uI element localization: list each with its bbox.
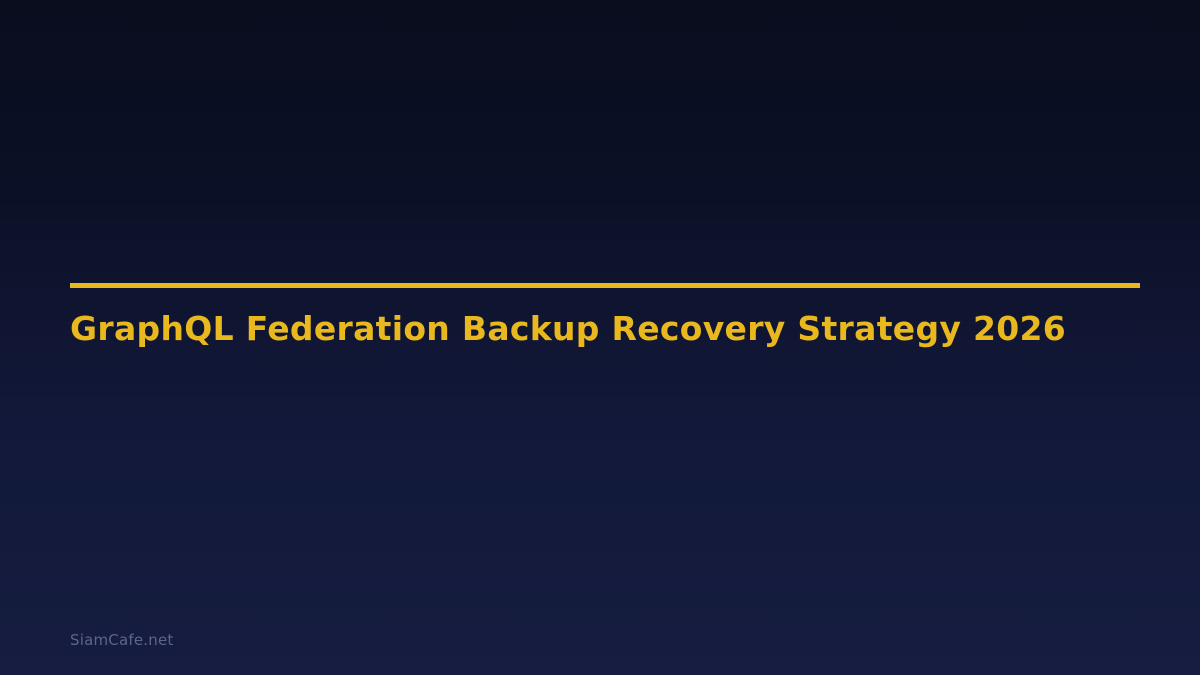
- title-block: GraphQL Federation Backup Recovery Strat…: [70, 283, 1140, 348]
- slide-footer: SiamCafe.net: [70, 630, 173, 649]
- page-title: GraphQL Federation Backup Recovery Strat…: [70, 288, 1140, 348]
- footer-brand-label: SiamCafe.net: [70, 631, 173, 649]
- slide-canvas: GraphQL Federation Backup Recovery Strat…: [0, 0, 1200, 675]
